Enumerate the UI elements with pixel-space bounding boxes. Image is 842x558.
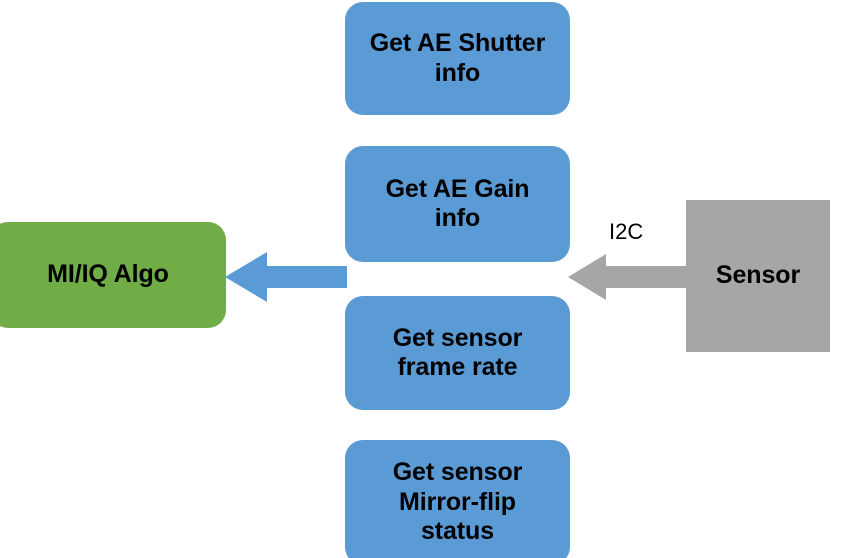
arrow-operations-to-algo-icon — [225, 250, 347, 304]
diagram-canvas: Get AE Shutter info Get AE Gain info Get… — [0, 0, 842, 558]
node-get-sensor-frame-rate[interactable]: Get sensor frame rate — [345, 296, 570, 410]
node-get-ae-shutter-info[interactable]: Get AE Shutter info — [345, 2, 570, 115]
node-mi-iq-algo[interactable]: MI/IQ Algo — [0, 222, 226, 328]
edge-label-i2c: I2C — [609, 221, 643, 243]
node-get-ae-gain-info[interactable]: Get AE Gain info — [345, 146, 570, 262]
arrow-sensor-to-operations-icon — [568, 253, 688, 301]
node-get-sensor-mirror-flip-status[interactable]: Get sensor Mirror-flip status — [345, 440, 570, 558]
node-sensor[interactable]: Sensor — [686, 200, 830, 352]
